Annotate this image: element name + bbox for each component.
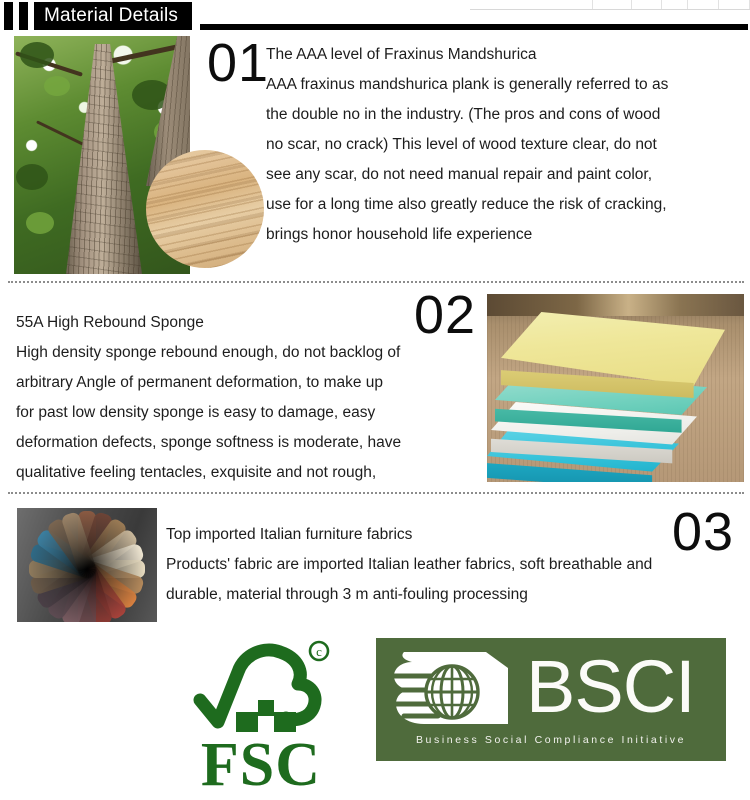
- copyright-icon: c: [310, 642, 328, 660]
- svg-text:c: c: [316, 644, 322, 659]
- section-01-line: AAA fraxinus mandshurica plank is genera…: [266, 70, 744, 100]
- header-bar-icon: [4, 2, 13, 30]
- section-number-02: 02: [414, 288, 476, 342]
- section-02-line: deformation defects, sponge softness is …: [16, 428, 436, 458]
- fsc-certification-logo: c FSC: [180, 638, 342, 794]
- header-bar-icon: [19, 2, 28, 30]
- section-01-text: The AAA level of Fraxinus Mandshurica AA…: [266, 40, 744, 250]
- section-02-text: 55A High Rebound Sponge High density spo…: [16, 308, 436, 488]
- fsc-wordmark: FSC: [180, 734, 342, 796]
- section-divider: [8, 492, 744, 494]
- leather-swatch-fan-photo: [17, 508, 157, 622]
- section-03-text: Top imported Italian furniture fabrics P…: [166, 520, 744, 610]
- bsci-certification-logo: BSCI Business Social Compliance Initiati…: [376, 638, 726, 761]
- section-01-line: use for a long time also greatly reduce …: [266, 190, 744, 220]
- section-01-heading: The AAA level of Fraxinus Mandshurica: [266, 40, 744, 70]
- bsci-wordmark: BSCI: [526, 644, 695, 730]
- section-02-line: High density sponge rebound enough, do n…: [16, 338, 436, 368]
- section-divider: [8, 281, 744, 283]
- bsci-tagline: Business Social Compliance Initiative: [376, 734, 726, 746]
- section-03-heading: Top imported Italian furniture fabrics: [166, 520, 744, 550]
- header-rule: [200, 24, 748, 30]
- section-01-line: see any scar, do not need manual repair …: [266, 160, 744, 190]
- fsc-trunk-shape: [236, 700, 296, 732]
- bsci-hand-globe-icon: [390, 646, 520, 730]
- section-header: Material Details: [0, 2, 750, 30]
- section-03-line: durable, material through 3 m anti-fouli…: [166, 580, 744, 610]
- section-01-line: the double no in the industry. (The pros…: [266, 100, 744, 130]
- section-01-line: brings honor household life experience: [266, 220, 744, 250]
- section-02-line: for past low density sponge is easy to d…: [16, 398, 436, 428]
- section-02-line: arbitrary Angle of permanent deformation…: [16, 368, 436, 398]
- section-number-03: 03: [672, 505, 734, 559]
- section-01-line: no scar, no crack) This level of wood te…: [266, 130, 744, 160]
- section-02-line: qualitative feeling tentacles, exquisite…: [16, 458, 436, 488]
- stacked-foam-sponge-photo: [487, 294, 744, 482]
- material-details-page: Material Details 01 The AAA level of Fra…: [0, 0, 750, 800]
- fsc-tree-checkmark-icon: c: [180, 638, 342, 742]
- section-number-01: 01: [207, 36, 269, 90]
- wood-grain-circle-photo: [146, 150, 264, 268]
- page-title: Material Details: [34, 2, 192, 30]
- section-03-line: Products' fabric are imported Italian le…: [166, 550, 744, 580]
- section-02-heading: 55A High Rebound Sponge: [16, 308, 436, 338]
